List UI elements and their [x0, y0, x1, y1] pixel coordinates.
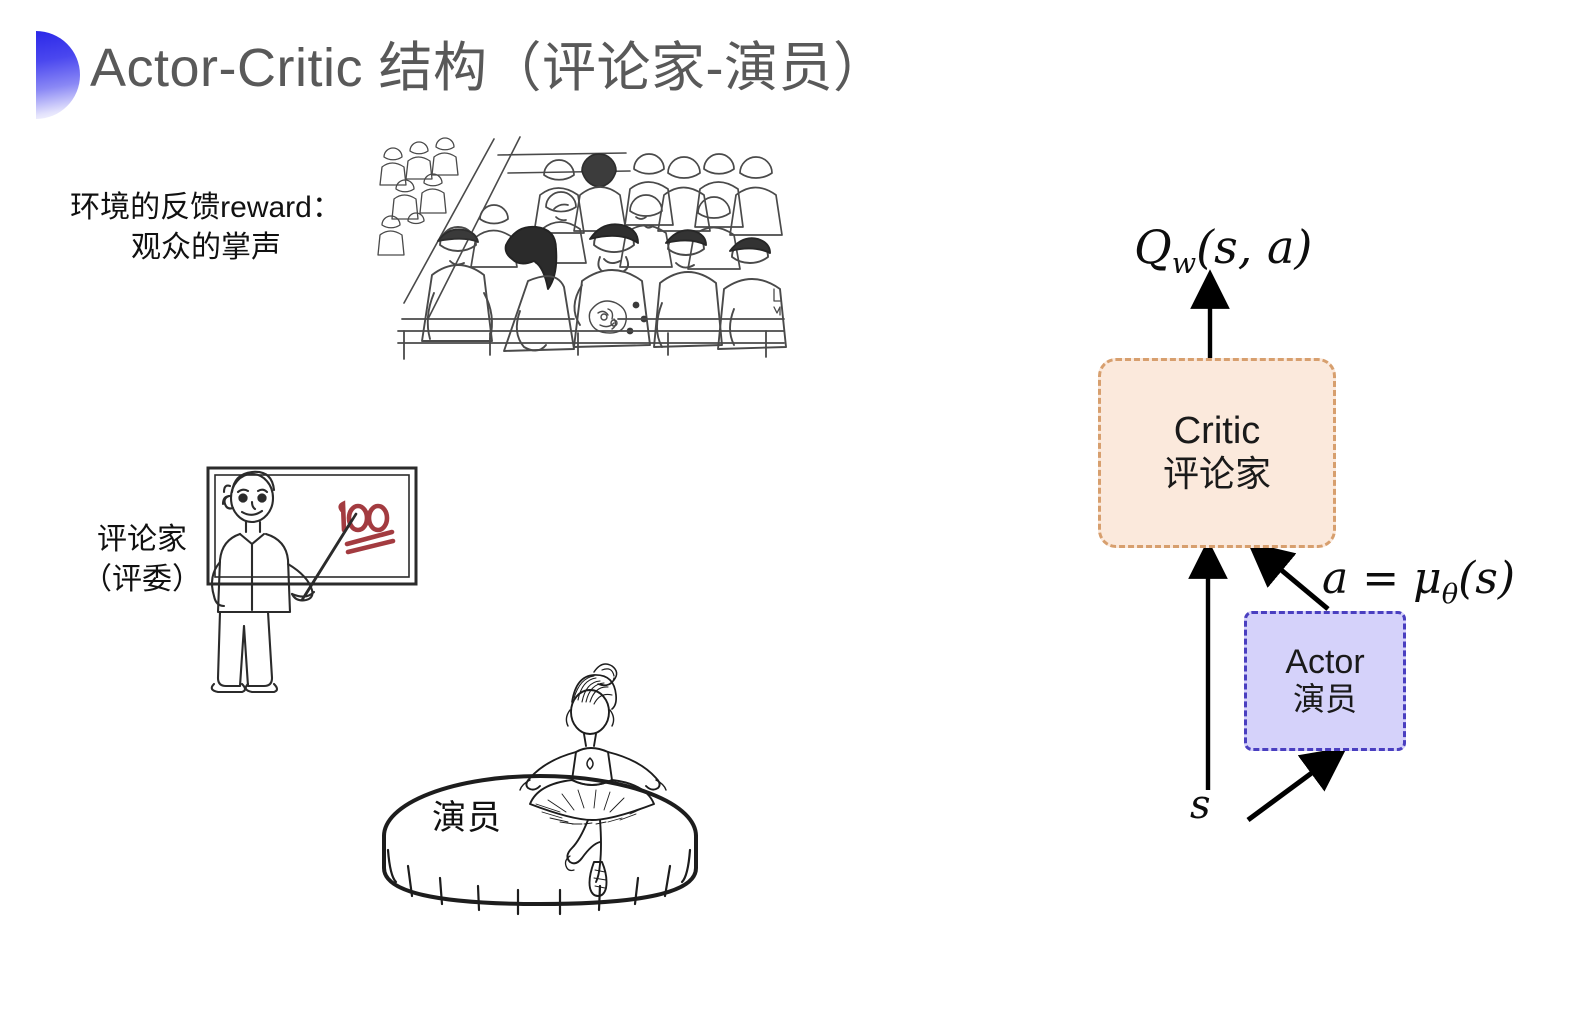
actor-critic-diagram: Qw(s, a) Critic 评论家 Actor 演员: [1050, 190, 1570, 870]
critic-node-en-label: Critic: [1174, 410, 1261, 453]
reward-label: 环境的反馈reward： 观众的掌声: [46, 188, 366, 267]
actor-node-en-label: Actor: [1285, 643, 1364, 681]
action-policy-formula: a = μθ(s): [1322, 553, 1515, 610]
critic-node[interactable]: Critic 评论家: [1098, 358, 1336, 548]
page-title: Actor-Critic 结构（评论家-演员）: [90, 36, 887, 101]
title-bullet-icon: [36, 31, 80, 119]
critic-node-cn-label: 评论家: [1163, 453, 1271, 495]
audience-applause-sketch: [368, 133, 788, 361]
actor-node-cn-label: 演员: [1293, 681, 1357, 719]
actor-to-critic-arrow: [1262, 554, 1328, 609]
ballerina-on-stage-sketch: [362, 640, 722, 920]
actor-node[interactable]: Actor 演员: [1244, 611, 1406, 751]
state-label: s: [1190, 782, 1211, 828]
stage-label: 演员: [432, 790, 502, 839]
state-to-actor-arrow: [1248, 758, 1332, 820]
